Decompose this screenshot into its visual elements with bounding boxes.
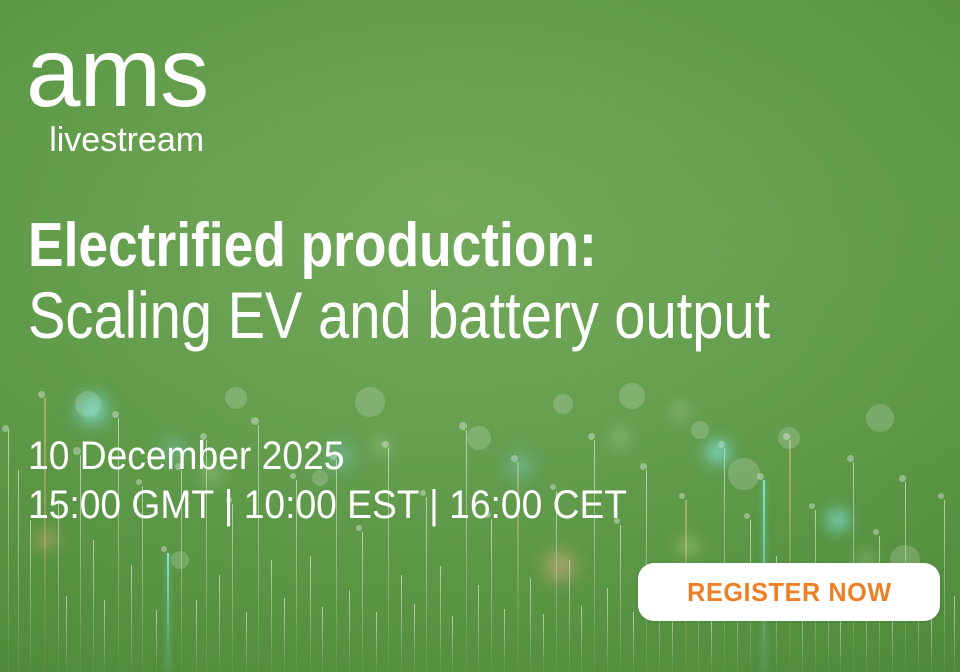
- register-now-button[interactable]: REGISTER NOW: [638, 563, 940, 621]
- event-date: 10 December 2025: [28, 432, 627, 481]
- ams-logo: ams livestream: [26, 26, 208, 157]
- banner-content: ams livestream Electrified production: S…: [0, 0, 960, 672]
- register-now-label: REGISTER NOW: [687, 577, 892, 608]
- event-times: 15:00 GMT | 10:00 EST | 16:00 CET: [28, 481, 627, 530]
- event-details: 10 December 2025 15:00 GMT | 10:00 EST |…: [28, 432, 672, 530]
- logo-wordmark: ams: [26, 26, 208, 119]
- headline-line-1: Electrified production:: [28, 214, 779, 278]
- promo-banner: ams livestream Electrified production: S…: [0, 0, 960, 672]
- headline-line-2: Scaling EV and battery output: [28, 280, 770, 351]
- logo-subtitle: livestream: [26, 123, 204, 157]
- headline: Electrified production: Scaling EV and b…: [28, 214, 901, 352]
